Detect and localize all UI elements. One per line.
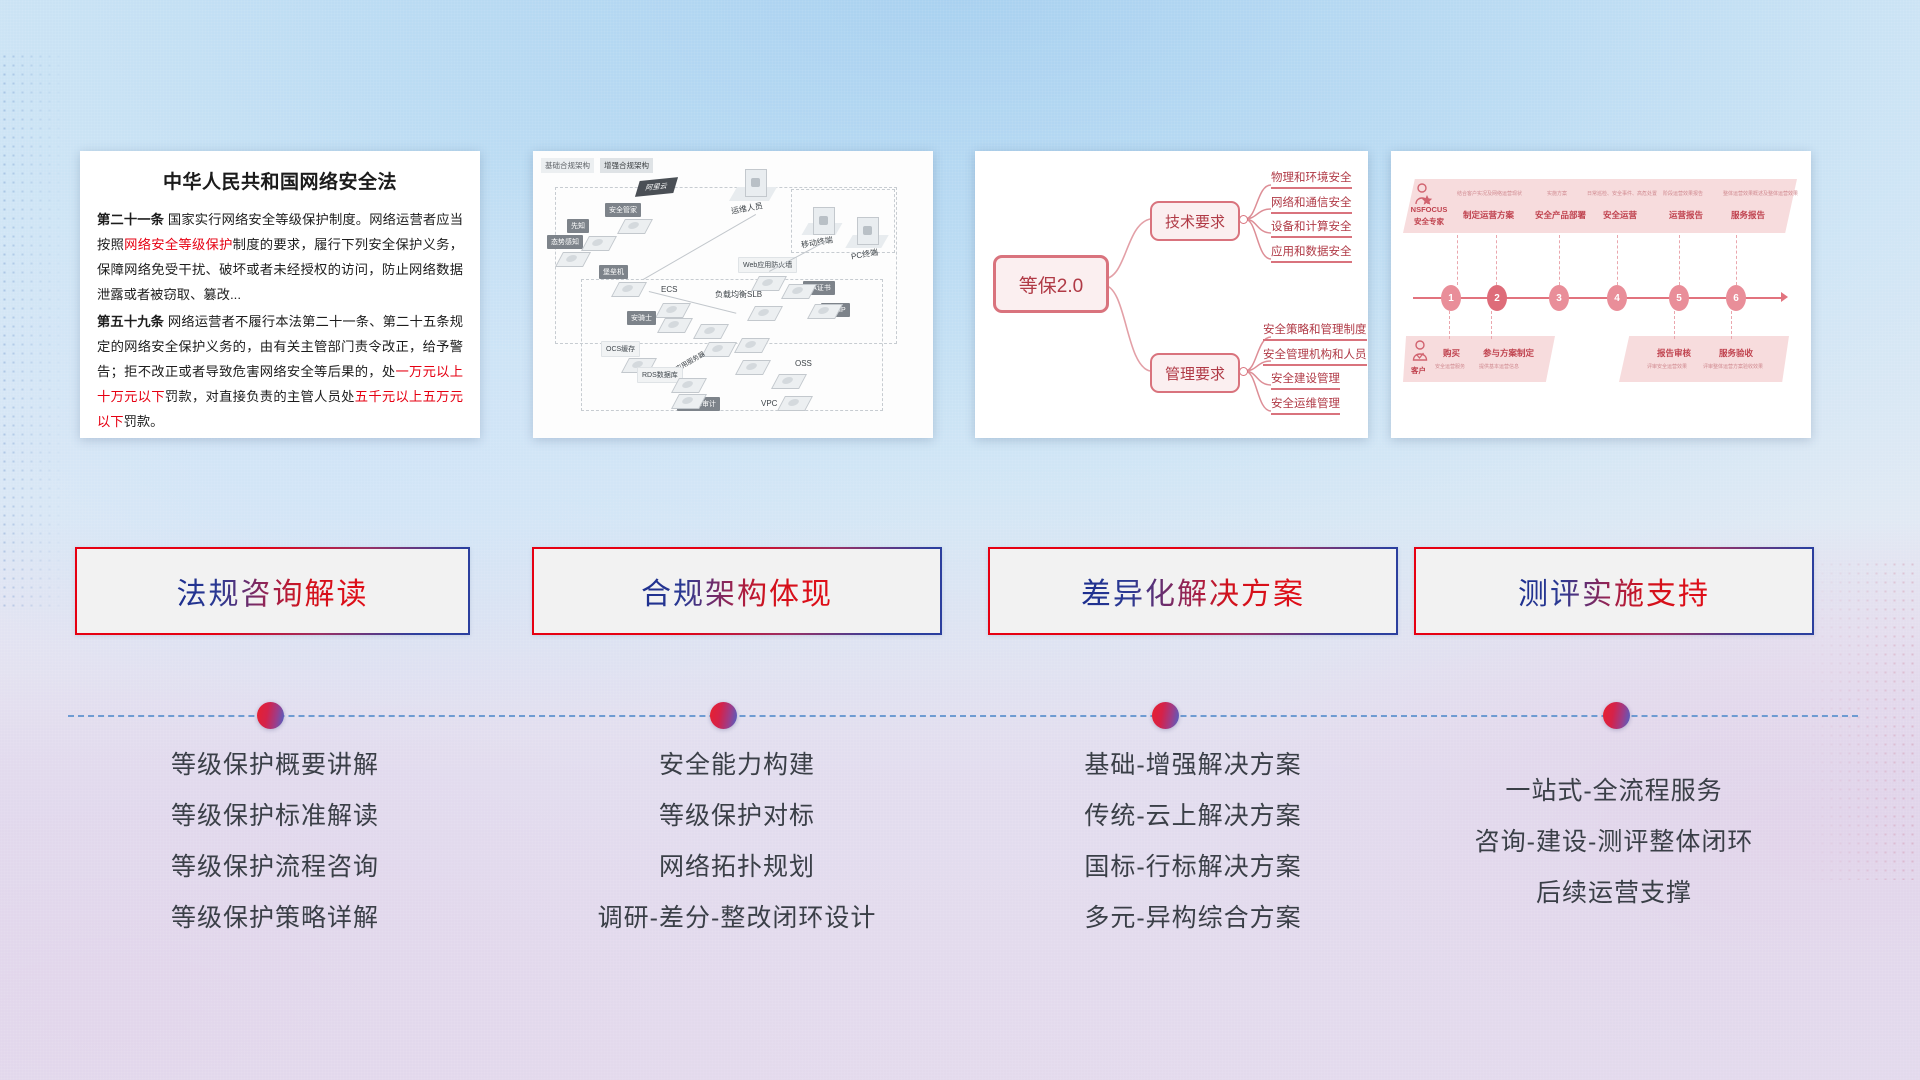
nsfocus-dash-8 — [1491, 311, 1493, 339]
mindmap-branch-management[interactable]: 管理要求 — [1150, 353, 1240, 393]
section-header-assessment-support[interactable]: 测评实施支持 — [1414, 547, 1814, 635]
list-item: 调研-差分-整改闭环设计 — [532, 893, 942, 944]
cube-icon-7 — [811, 299, 837, 317]
law-article-59: 第五十九条 网络运营者不履行本法第二十一条、第二十五条规定的网络安全保护义务的，… — [97, 309, 463, 434]
section-header-title-3: 差异化解决方案 — [1081, 569, 1305, 613]
cube-icon-6 — [785, 279, 811, 297]
network-diagram: 基础合规架构 增强合规架构 阿里云 态势感知 先知 安全管家 运维人员 移动终端… — [533, 151, 933, 438]
cube-icon-5 — [755, 271, 781, 289]
cube-icon-9 — [751, 301, 777, 319]
nsfocus-dash-1 — [1457, 235, 1459, 285]
mindmap-leaf-ops-mgmt: 安全运维管理 — [1271, 395, 1340, 415]
nsfocus-diagram: NSFOCUS 安全专家 结合客户实况及网络运营现状 制定运营方案 实施方案 安… — [1391, 151, 1811, 438]
list-item: 咨询-建设-测评整体闭环 — [1414, 817, 1814, 868]
law-text-wrap: 中华人民共和国网络安全法 第二十一条 国家实行网络安全等级保护制度。网络运营者应… — [80, 151, 480, 438]
section-header-regulation-consulting[interactable]: 法规咨询解读 — [75, 547, 470, 635]
mindmap: 等保2.0 技术要求 管理要求 物理和环境安全 网络和通信安全 设备和计算安全 … — [975, 151, 1368, 438]
node-load-balancer-slb: 负载均衡SLB — [715, 289, 762, 300]
mindmap-leaf-physical-env: 物理和环境安全 — [1271, 169, 1352, 189]
section-items-column-2: 安全能力构建 等级保护对标 网络拓扑规划 调研-差分-整改闭环设计 — [532, 740, 942, 944]
section-header-title-2: 合规架构体现 — [641, 569, 833, 613]
card-cybersecurity-law[interactable]: 中华人民共和国网络安全法 第二十一条 国家实行网络安全等级保护制度。网络运营者应… — [80, 151, 480, 438]
server-icon-mobile — [813, 207, 835, 235]
list-item: 传统-云上解决方案 — [988, 791, 1398, 842]
nsfocus-customer-label: 客户 — [1411, 365, 1426, 376]
nsfocus-bottom-main-2: 参与方案制定 — [1483, 347, 1534, 359]
nsfocus-step-2[interactable]: 2 — [1487, 285, 1507, 311]
nsfocus-top-main-1: 制定运营方案 — [1463, 209, 1514, 221]
nsfocus-step-6[interactable]: 6 — [1726, 285, 1746, 311]
card-nsfocus-process[interactable]: NSFOCUS 安全专家 结合客户实况及网络运营现状 制定运营方案 实施方案 安… — [1391, 151, 1811, 438]
list-item: 等级保护对标 — [532, 791, 942, 842]
list-item: 等级保护标准解读 — [75, 791, 475, 842]
nsfocus-dash-4 — [1617, 235, 1619, 285]
node-oss: OSS — [795, 359, 812, 368]
timeline-dot-3[interactable] — [1152, 702, 1179, 729]
mindmap-leaf-org-personnel: 安全管理机构和人员 — [1263, 346, 1367, 366]
nsfocus-top-sub-4: 阶段运营效果报告 — [1663, 190, 1703, 197]
node-vpc: VPC — [761, 399, 777, 408]
nsfocus-dash-6 — [1736, 235, 1738, 285]
section-header-compliance-architecture[interactable]: 合规架构体现 — [532, 547, 942, 635]
timeline-dashed-line — [68, 715, 1858, 717]
timeline — [0, 696, 1920, 736]
list-item: 等级保护策略详解 — [75, 893, 475, 944]
law-article-21: 第二十一条 国家实行网络安全等级保护制度。网络运营者应当按照网络安全等级保护制度… — [97, 207, 463, 307]
section-items-column-1: 等级保护概要讲解 等级保护标准解读 等级保护流程咨询 等级保护策略详解 — [75, 740, 475, 944]
mindmap-leaf-construction-mgmt: 安全建设管理 — [1271, 370, 1340, 390]
cube-icon-14 — [739, 355, 765, 373]
nsfocus-dash-10 — [1731, 311, 1733, 339]
section-headers-row: 法规咨询解读 合规架构体现 差异化解决方案 测评实施支持 — [0, 547, 1920, 637]
mindmap-collapse-dot-technical[interactable] — [1239, 215, 1248, 224]
customer-person-icon — [1411, 340, 1431, 364]
nsfocus-step-5[interactable]: 5 — [1669, 285, 1689, 311]
section-header-title-4: 测评实施支持 — [1518, 569, 1710, 613]
law-article-59-seg-4: 罚款。 — [124, 414, 164, 429]
cube-icon-13 — [738, 333, 764, 351]
list-item: 安全能力构建 — [532, 740, 942, 791]
nsfocus-axis-arrow — [1781, 292, 1788, 302]
nsfocus-top-main-4: 运营报告 — [1669, 209, 1703, 221]
law-article-21-label: 第二十一条 — [97, 212, 164, 227]
section-header-title-1: 法规咨询解读 — [177, 569, 369, 613]
nsfocus-bottom-main-3: 报告审核 — [1657, 347, 1691, 359]
section-items-row: 等级保护概要讲解 等级保护标准解读 等级保护流程咨询 等级保护策略详解 安全能力… — [0, 740, 1920, 960]
cards-row: 中华人民共和国网络安全法 第二十一条 国家实行网络安全等级保护制度。网络运营者应… — [0, 151, 1920, 441]
timeline-dot-1[interactable] — [257, 702, 284, 729]
nsfocus-dash-2 — [1496, 235, 1498, 285]
nsfocus-expert-label-1: NSFOCUS — [1409, 205, 1449, 214]
list-item: 多元-异构综合方案 — [988, 893, 1398, 944]
list-item: 网络拓扑规划 — [532, 842, 942, 893]
list-item: 一站式-全流程服务 — [1414, 766, 1814, 817]
section-header-differentiated-solution[interactable]: 差异化解决方案 — [988, 547, 1398, 635]
nsfocus-top-main-3: 安全运营 — [1603, 209, 1637, 221]
server-icon-pc — [857, 217, 879, 245]
nsfocus-step-1[interactable]: 1 — [1441, 285, 1461, 311]
nsfocus-top-main-2: 安全产品部署 — [1535, 209, 1586, 221]
nsfocus-top-main-5: 服务报告 — [1731, 209, 1765, 221]
mindmap-collapse-dot-management[interactable] — [1239, 367, 1248, 376]
cube-icon-4 — [615, 277, 641, 295]
section-items-column-3: 基础-增强解决方案 传统-云上解决方案 国标-行标解决方案 多元-异构综合方案 — [988, 740, 1398, 944]
nsfocus-bottom-main-4: 服务验收 — [1719, 347, 1753, 359]
network-tab-basic[interactable]: 基础合规架构 — [541, 158, 594, 173]
nsfocus-step-3[interactable]: 3 — [1549, 285, 1569, 311]
mindmap-leaf-policy-system: 安全策略和管理制度 — [1263, 321, 1367, 341]
expert-person-icon — [1413, 183, 1433, 205]
network-tab-enhanced[interactable]: 增强合规架构 — [600, 158, 653, 173]
nsfocus-bottom-sub-4: 评审整体运营方案验收效果 — [1703, 363, 1763, 370]
nsfocus-dash-7 — [1449, 311, 1451, 339]
timeline-dot-2[interactable] — [710, 702, 737, 729]
law-article-59-seg-2: 罚款，对直接负责的主管人员处 — [165, 389, 355, 404]
cube-icon-2 — [585, 231, 611, 249]
nsfocus-bottom-sub-1: 安全运营服务 — [1435, 363, 1465, 370]
law-title: 中华人民共和国网络安全法 — [97, 167, 463, 194]
cube-icon-18 — [775, 369, 801, 387]
mindmap-root-node[interactable]: 等保2.0 — [993, 255, 1109, 313]
nsfocus-step-4[interactable]: 4 — [1607, 285, 1627, 311]
nsfocus-top-sub-2: 实施方案 — [1547, 190, 1567, 197]
mindmap-leaf-device-compute: 设备和计算安全 — [1271, 218, 1352, 238]
cube-icon-3 — [621, 214, 647, 232]
list-item: 等级保护概要讲解 — [75, 740, 475, 791]
law-article-59-label: 第五十九条 — [97, 314, 164, 329]
nsfocus-top-sub-1: 结合客户实况及网络运营现状 — [1457, 190, 1522, 197]
cube-icon-12 — [705, 337, 731, 355]
cube-icon-19 — [781, 391, 807, 409]
list-item: 等级保护流程咨询 — [75, 842, 475, 893]
node-ecs: ECS — [661, 285, 677, 294]
nsfocus-bottom-sub-2: 提供基本运营信息 — [1479, 363, 1519, 370]
timeline-dot-4[interactable] — [1603, 702, 1630, 729]
nsfocus-bottom-sub-3: 评审安全运营效果 — [1647, 363, 1687, 370]
network-tabs: 基础合规架构 增强合规架构 — [541, 158, 653, 173]
cube-icon-10 — [661, 313, 687, 331]
mindmap-branch-technical[interactable]: 技术要求 — [1150, 201, 1240, 241]
section-items-column-4: 一站式-全流程服务 咨询-建设-测评整体闭环 后续运营支撑 — [1414, 766, 1814, 919]
law-article-21-seg-1: 网络安全等级保护 — [124, 237, 233, 252]
nsfocus-dash-5 — [1679, 235, 1681, 285]
server-icon-ops — [745, 169, 767, 197]
nsfocus-expert-band — [1403, 179, 1797, 233]
mindmap-leaf-app-data: 应用和数据安全 — [1271, 243, 1352, 263]
node-anqishi: 安骑士 — [627, 311, 656, 325]
nsfocus-expert-label-2: 安全专家 — [1409, 216, 1449, 227]
mindmap-leaf-network-comm: 网络和通信安全 — [1271, 194, 1352, 214]
list-item: 后续运营支撑 — [1414, 868, 1814, 919]
list-item: 基础-增强解决方案 — [988, 740, 1398, 791]
nsfocus-top-sub-5: 整体运营效果概述及整体运营效果 — [1723, 190, 1798, 197]
card-network-architecture[interactable]: 基础合规架构 增强合规架构 阿里云 态势感知 先知 安全管家 运维人员 移动终端… — [533, 151, 933, 438]
card-mindmap-dengbao[interactable]: 等保2.0 技术要求 管理要求 物理和环境安全 网络和通信安全 设备和计算安全 … — [975, 151, 1368, 438]
cube-icon-11 — [697, 319, 723, 337]
nsfocus-customer-band-right — [1619, 336, 1789, 382]
nsfocus-dash-9 — [1674, 311, 1676, 339]
nsfocus-dash-3 — [1559, 235, 1561, 285]
nsfocus-bottom-main-1: 购买 — [1443, 347, 1460, 359]
cube-icon-17 — [675, 389, 701, 407]
nsfocus-top-sub-3: 日常巡检、安全事件、高危处置 — [1587, 190, 1657, 197]
list-item: 国标-行标解决方案 — [988, 842, 1398, 893]
